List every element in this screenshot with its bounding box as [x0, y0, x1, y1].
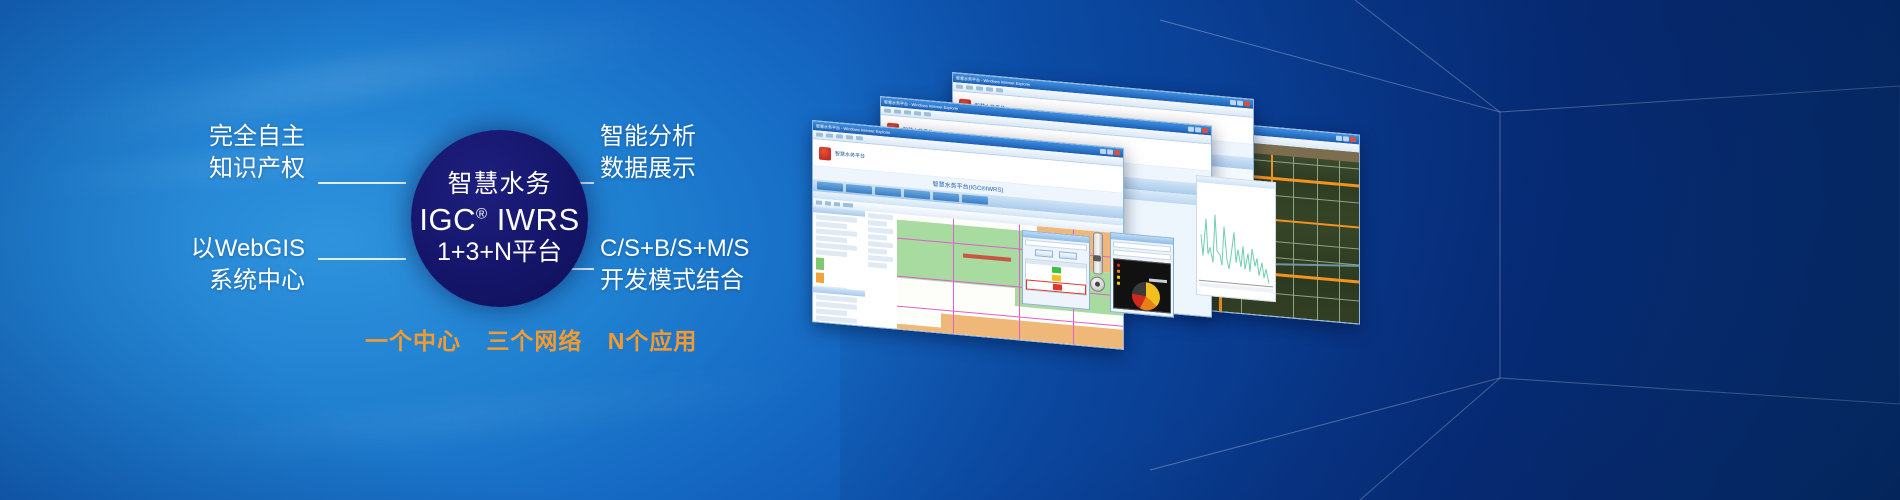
feature-line-2: 知识产权	[165, 153, 305, 185]
window-controls[interactable]	[1230, 100, 1250, 107]
feature-line-1: 以WebGIS	[145, 233, 305, 265]
feature-line-1: C/S+B/S+M/S	[600, 233, 749, 265]
badge-line-2: IGC® IWRS	[419, 204, 579, 237]
badge-line-3: 1+3+N平台	[437, 239, 562, 265]
feature-label-top-right: 智能分析 数据展示	[600, 121, 696, 184]
dialog-confirm-button[interactable]	[1035, 249, 1053, 258]
nav-item[interactable]	[846, 184, 872, 194]
connector-line	[318, 182, 406, 184]
nav-item[interactable]	[817, 181, 843, 191]
center-badge: 智慧水务 IGC® IWRS 1+3+N平台	[411, 130, 588, 307]
tagline-part-2: 三个网络	[486, 328, 582, 354]
window-controls[interactable]	[1100, 149, 1120, 156]
app-logo-text: 智慧水务平台	[835, 151, 865, 160]
tagline-part-1: 一个中心	[365, 328, 461, 354]
tagline: 一个中心 三个网络 N个应用	[365, 322, 715, 356]
feature-label-top-left: 完全自主 知识产权	[165, 121, 305, 184]
zoom-slider[interactable]	[1093, 232, 1103, 275]
feature-line-2: 开发模式结合	[600, 265, 749, 297]
window-controls[interactable]	[1336, 135, 1356, 142]
banner-stage: GIS 影像地图	[0, 0, 1900, 500]
registered-icon: ®	[476, 205, 488, 222]
trend-chart-window[interactable]	[1196, 175, 1276, 302]
pie-slices	[1132, 281, 1160, 311]
nav-item[interactable]	[933, 192, 959, 202]
tool-list-panel[interactable]	[865, 211, 898, 344]
connector-line	[318, 258, 406, 260]
attribute-table-panel[interactable]	[813, 286, 866, 341]
tagline-part-3: N个应用	[608, 328, 698, 354]
badge-product: IWRS	[497, 202, 580, 237]
feature-line-2: 系统中心	[145, 265, 305, 297]
line-chart	[1197, 182, 1275, 299]
feature-line-1: 智能分析	[600, 121, 696, 153]
feature-line-2: 数据展示	[600, 153, 696, 185]
dialog-cancel-button[interactable]	[1059, 251, 1077, 260]
badge-line-1: 智慧水务	[447, 171, 551, 197]
badge-brand: IGC	[419, 202, 476, 237]
feature-line-1: 完全自主	[165, 121, 305, 153]
feature-label-bottom-left: 以WebGIS 系统中心	[145, 233, 305, 296]
feature-label-bottom-right: C/S+B/S+M/S 开发模式结合	[600, 233, 749, 296]
nav-item[interactable]	[962, 194, 988, 204]
valve-analysis-dialog[interactable]	[1022, 230, 1090, 310]
monitor-dialog[interactable]	[1110, 232, 1174, 318]
pan-control[interactable]	[1090, 276, 1105, 292]
nav-item[interactable]	[904, 189, 930, 199]
window-controls[interactable]	[1188, 126, 1208, 133]
nav-item[interactable]	[875, 187, 901, 197]
pie-chart-widget[interactable]	[1113, 258, 1171, 313]
water-drop-logo-icon	[819, 146, 831, 160]
